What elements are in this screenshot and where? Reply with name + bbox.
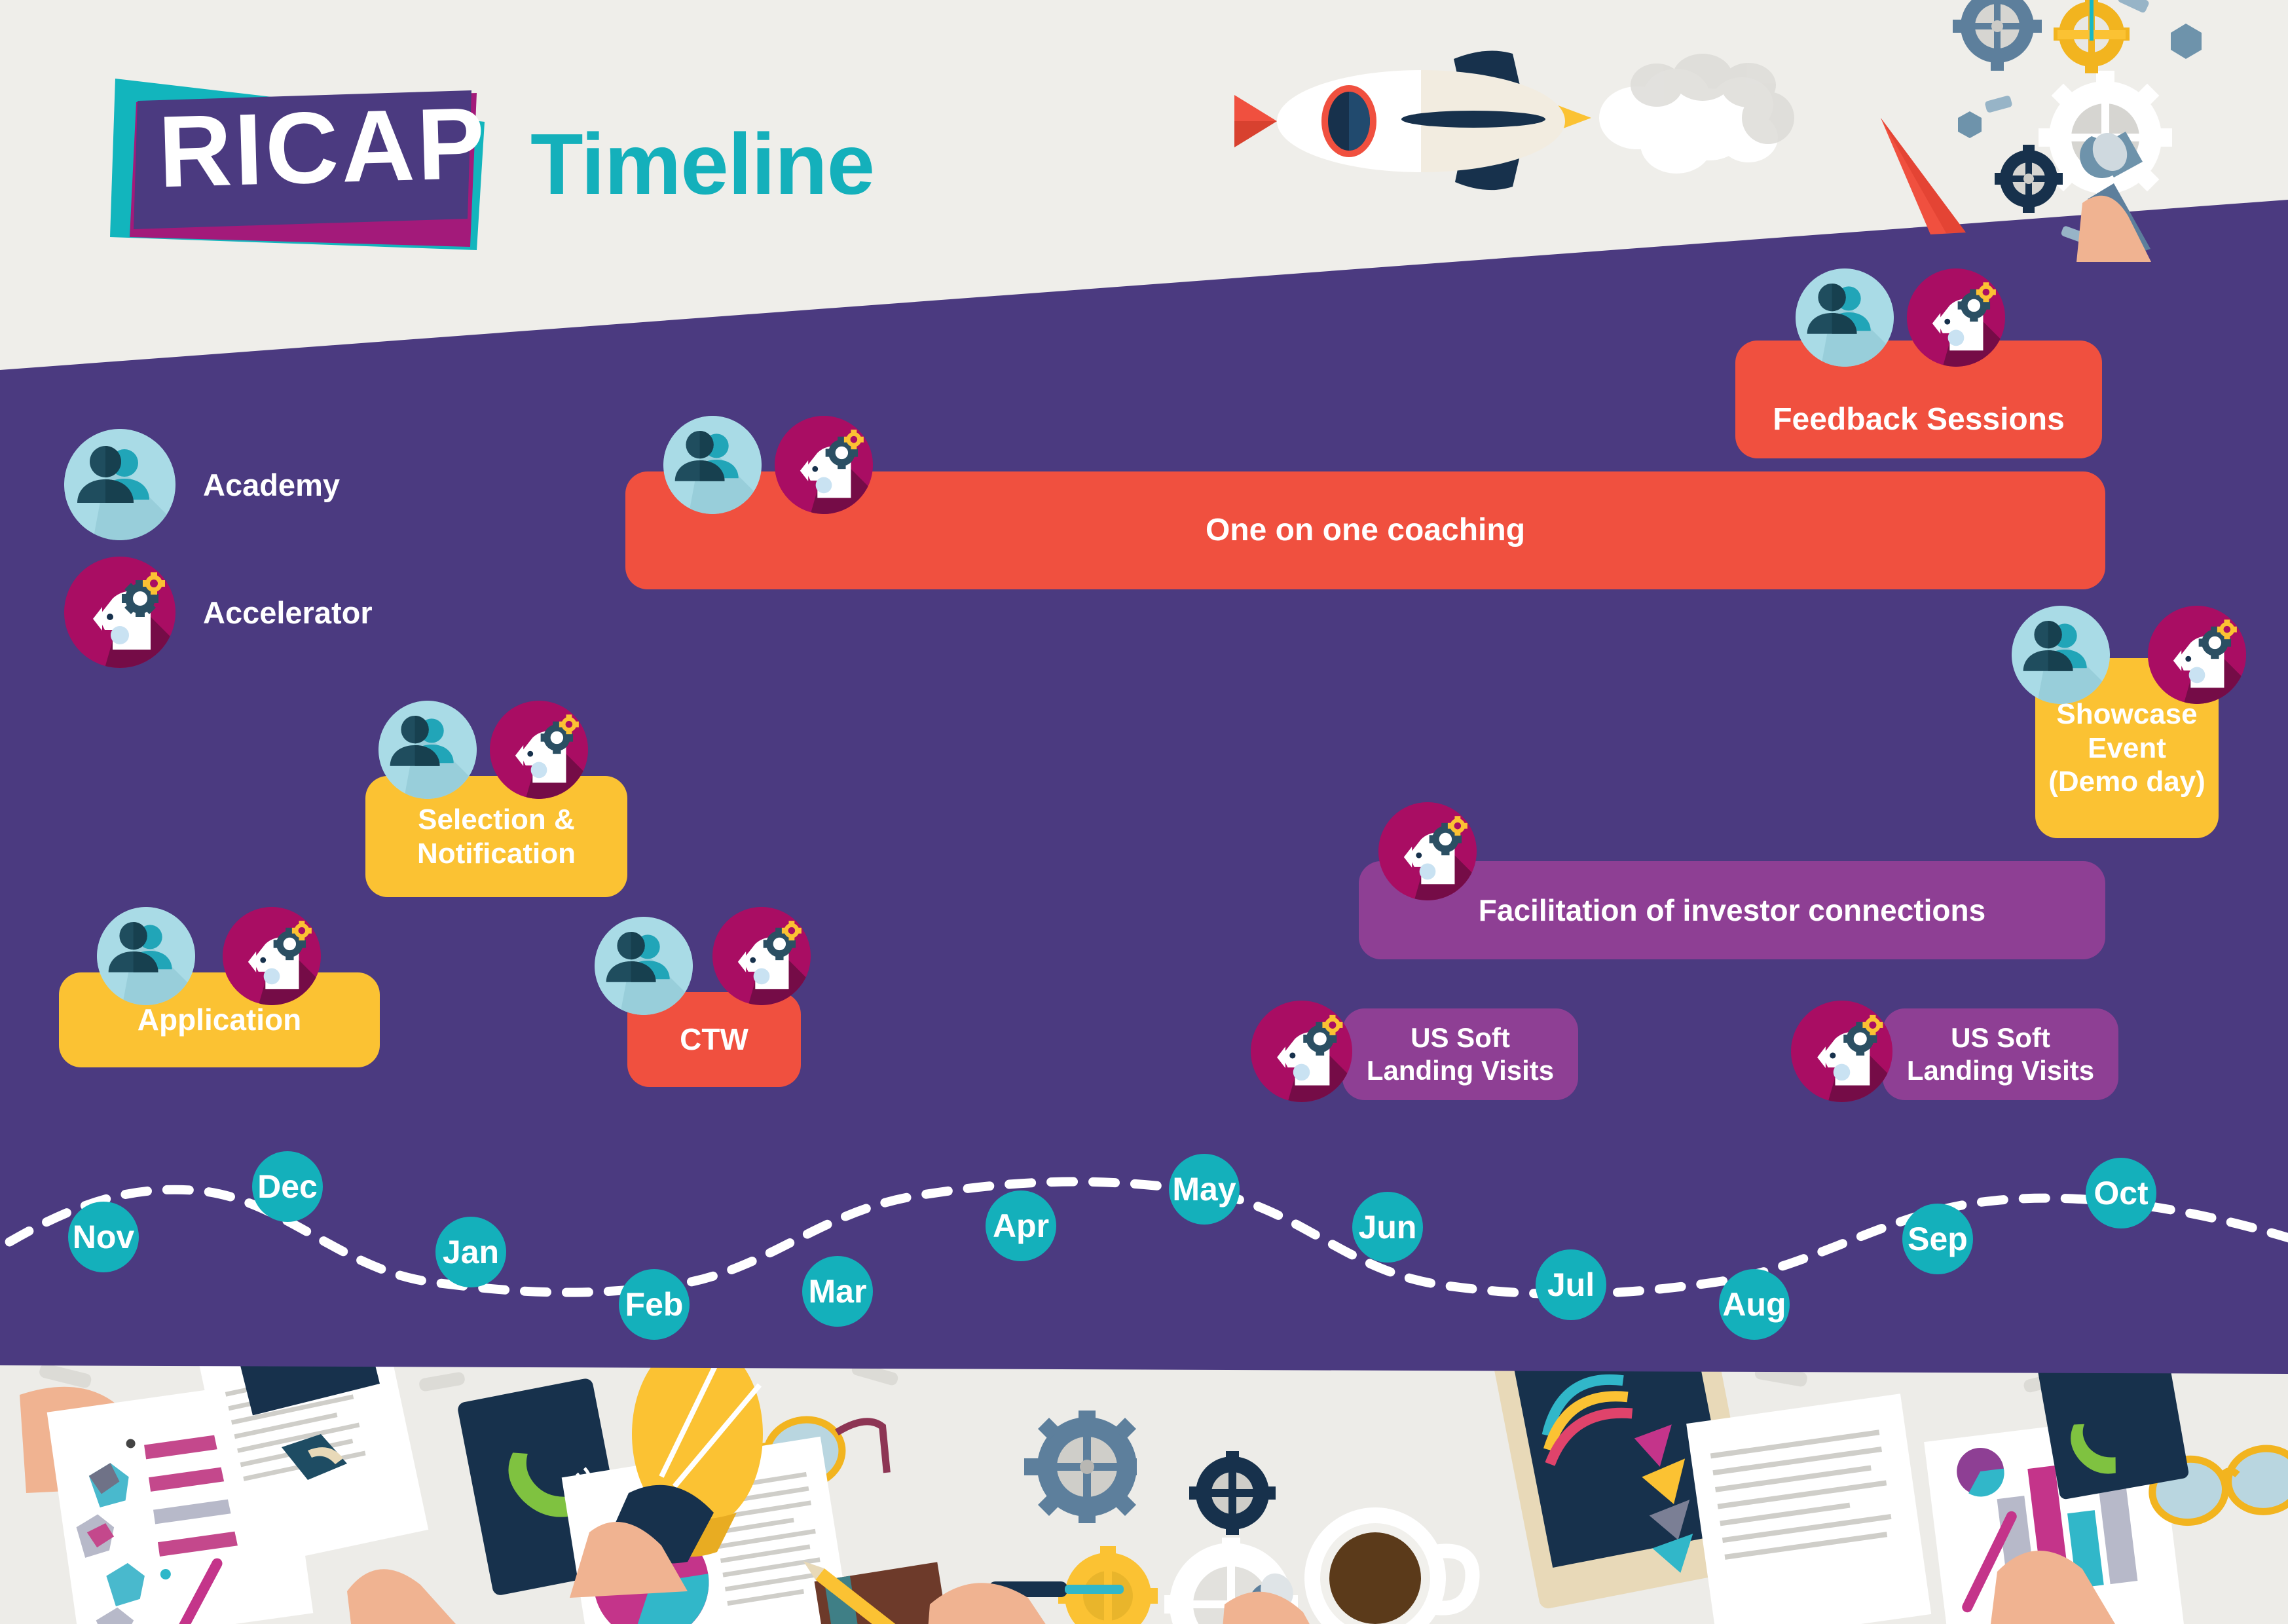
legend-item-label: Accelerator [203,595,373,631]
head-gear-icon [64,557,175,668]
legend-item-academy[interactable]: Academy [64,429,340,540]
infographic-canvas: RICAP Timeline [0,0,2288,1624]
gears-tools-icon [1866,0,2288,262]
people-icon [64,429,175,540]
header-illustration-area: RICAP Timeline [0,0,2288,393]
legend-item-label: Academy [203,467,340,503]
ricap-logo: RICAP [110,72,503,262]
rocket-icon [1225,20,1814,216]
legend-item-accelerator[interactable]: Accelerator [64,557,373,668]
logo-wordmark: RICAP [157,93,461,203]
page-title: Timeline [530,115,874,213]
